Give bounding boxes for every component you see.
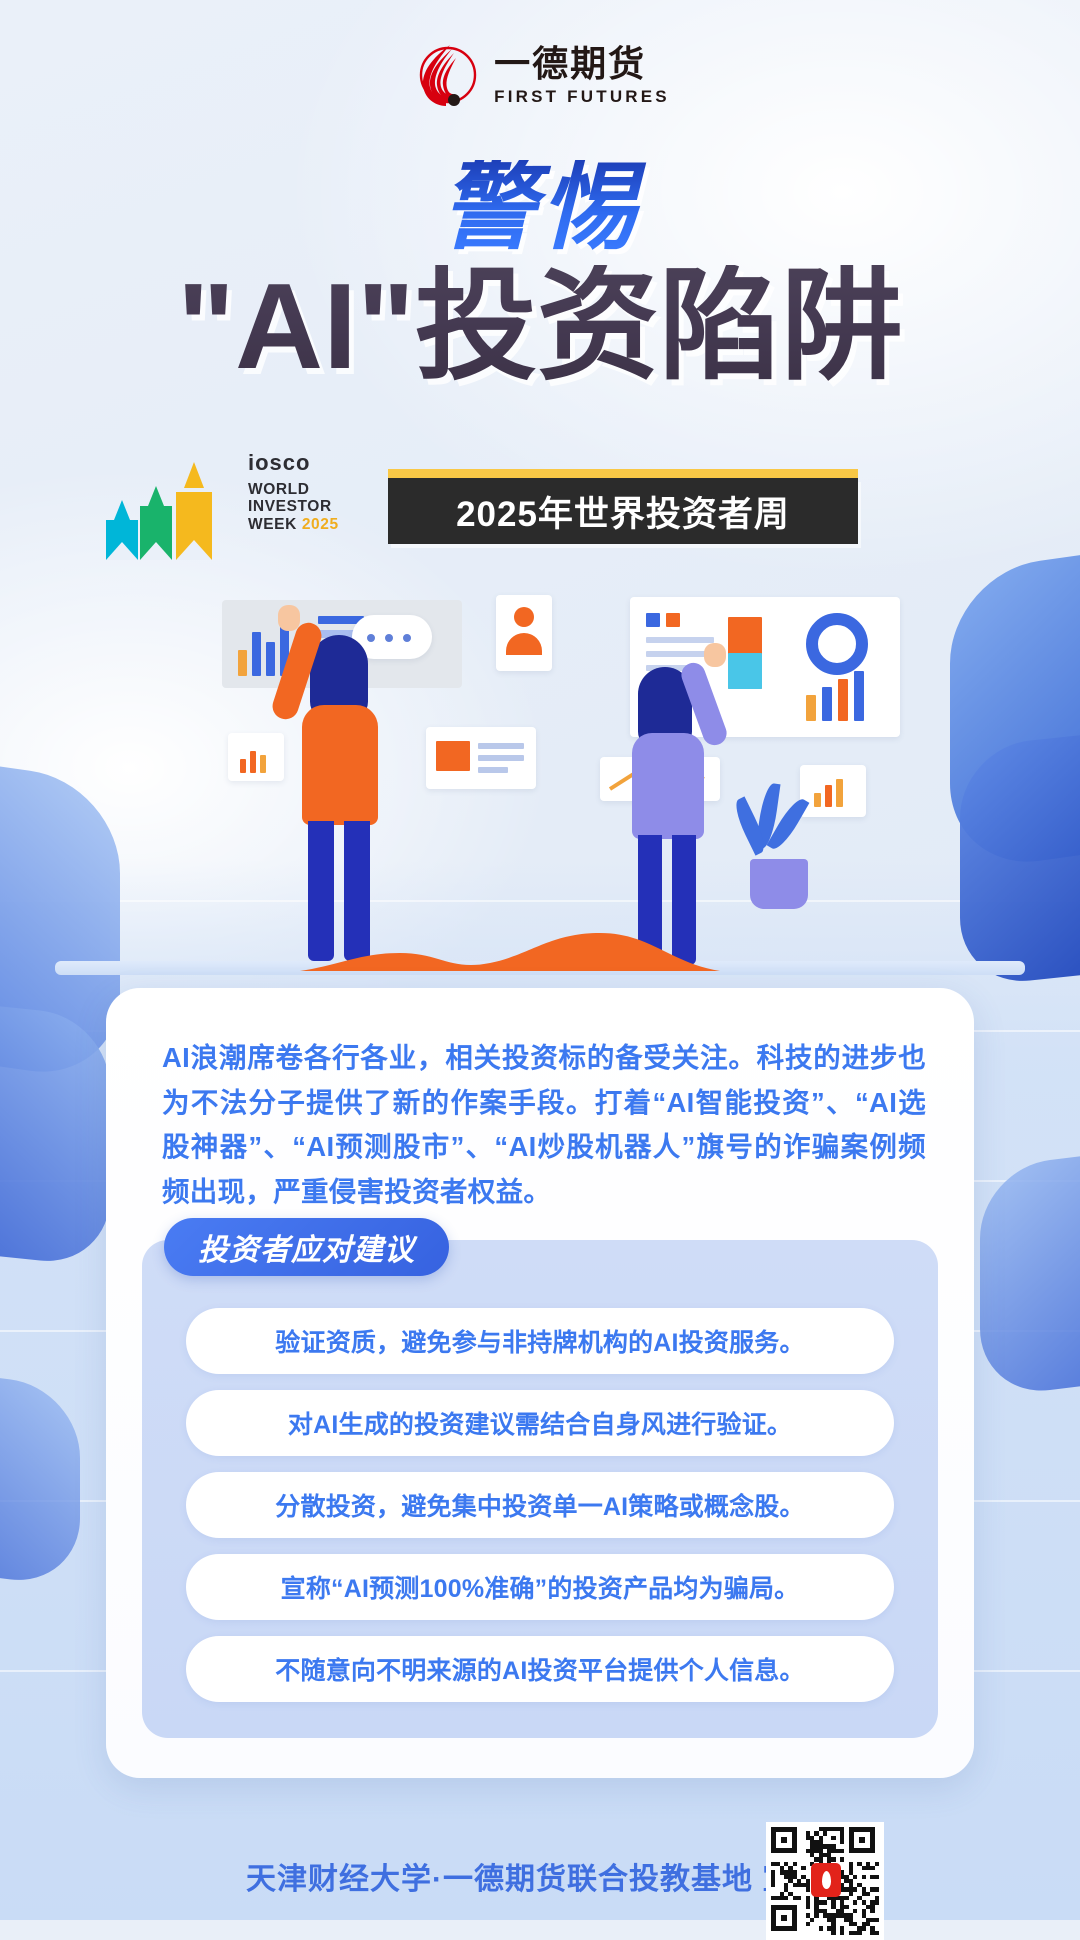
iosco-year: 2025 <box>302 516 339 533</box>
person-left <box>292 635 402 965</box>
event-banner-label: 2025年世界投资者周 <box>456 486 790 537</box>
flame-leaf-logo-icon <box>410 40 480 110</box>
iosco-world-investor-week-logo: iosco WORLD INVESTOR WEEK 2025 <box>100 448 360 563</box>
tips-section-header: 投资者应对建议 <box>164 1218 449 1276</box>
footer: 天津财经大学·一德期货联合投教基地 宣 <box>0 1838 1080 1918</box>
avatar-card-tile <box>496 595 552 671</box>
intro-paragraph: AI浪潮席卷各行各业，相关投资标的备受关注。科技的进步也为不法分子提供了新的作案… <box>162 1036 926 1214</box>
event-banner: 2025年世界投资者周 <box>388 478 858 544</box>
list-item: 宣称“AI预测100%准确”的投资产品均为骗局。 <box>186 1554 894 1620</box>
list-item: 验证资质，避免参与非持牌机构的AI投资服务。 <box>186 1308 894 1374</box>
decorative-ribbon-left-2 <box>0 1002 110 1268</box>
iosco-line-world: WORLD <box>248 481 339 498</box>
content-card: AI浪潮席卷各行各业，相关投资标的备受关注。科技的进步也为不法分子提供了新的作案… <box>106 988 974 1778</box>
left-document-tile <box>426 727 536 789</box>
brand-logo: 一德期货 FIRST FUTURES <box>0 40 1080 110</box>
qr-center-logo <box>811 1863 841 1897</box>
list-item: 不随意向不明来源的AI投资平台提供个人信息。 <box>186 1636 894 1702</box>
left-small-chart-tile <box>228 733 284 781</box>
page-title-line1: 警惕 <box>0 160 1080 256</box>
tips-section-title: 投资者应对建议 <box>198 1225 415 1269</box>
tips-list: 验证资质，避免参与非持牌机构的AI投资服务。 对AI生成的投资建议需结合自身风进… <box>186 1308 894 1702</box>
list-item: 分散投资，避免集中投资单一AI策略或概念股。 <box>186 1472 894 1538</box>
tips-section: 投资者应对建议 验证资质，避免参与非持牌机构的AI投资服务。 对AI生成的投资建… <box>142 1240 938 1738</box>
iosco-line-week: WEEK <box>248 516 297 533</box>
iosco-pencil-icon <box>100 448 250 563</box>
page-title-line2: "AI"投资陷阱 <box>0 265 1080 387</box>
brand-name-en: FIRST FUTURES <box>494 88 670 105</box>
brand-name-cn: 一德期货 <box>494 46 646 82</box>
qr-code-icon[interactable] <box>766 1822 884 1940</box>
list-item: 对AI生成的投资建议需结合自身风进行验证。 <box>186 1390 894 1456</box>
footer-text: 天津财经大学·一德期货联合投教基地 宣 <box>246 1854 793 1898</box>
sand-mounds <box>300 919 720 971</box>
iosco-wordmark: iosco <box>248 452 339 474</box>
investors-illustration <box>0 565 1080 985</box>
potted-plant <box>738 783 828 953</box>
iosco-line-investor: INVESTOR <box>248 498 339 515</box>
